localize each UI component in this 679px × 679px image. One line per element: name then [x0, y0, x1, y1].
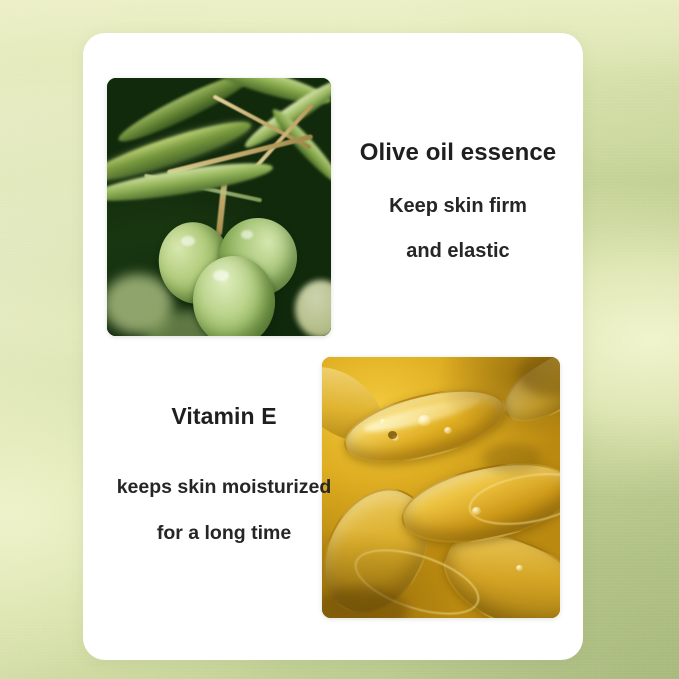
vitamin-e-line-2: for a long time	[97, 521, 351, 545]
vitamin-e-text-block: Vitamin E keeps skin moisturized for a l…	[97, 403, 351, 545]
olive-highlight	[213, 270, 229, 281]
olive-branch-photo	[107, 78, 331, 336]
vitamin-e-line-1: keeps skin moisturized	[97, 475, 351, 499]
vitamin-e-heading: Vitamin E	[97, 403, 351, 431]
olive-line-1: Keep skin firm	[350, 194, 566, 219]
olive-line-2: and elastic	[350, 239, 566, 264]
olive-highlight	[181, 236, 195, 246]
ingredient-card: Olive oil essence Keep skin firm and ela…	[83, 33, 583, 660]
olive-heading: Olive oil essence	[350, 139, 566, 168]
page-background: Olive oil essence Keep skin firm and ela…	[0, 0, 679, 679]
vitamin-e-capsules-photo	[322, 357, 560, 618]
olive-highlight	[241, 230, 253, 239]
olive-text-block: Olive oil essence Keep skin firm and ela…	[350, 139, 566, 264]
capsule-photo-shading	[322, 357, 560, 618]
